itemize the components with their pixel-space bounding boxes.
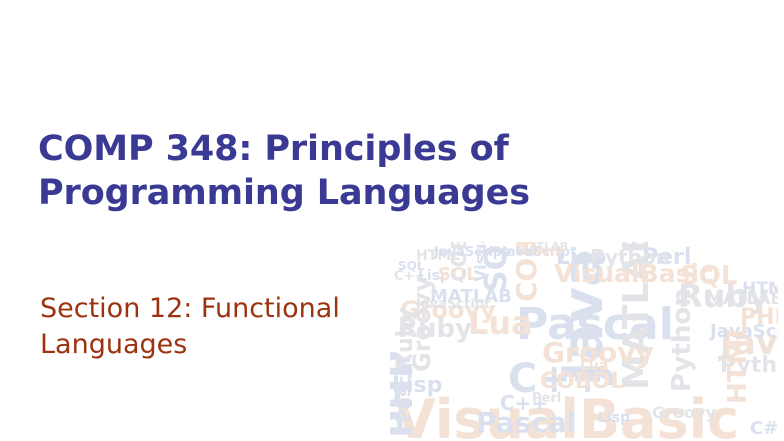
wordcloud-word: C++: [500, 391, 548, 415]
wordcloud-word: PHP: [536, 245, 564, 259]
wordcloud-word: Pascal: [394, 357, 415, 422]
wordcloud-word: Groovy: [652, 403, 716, 422]
subtitle-block: Section 12: Functional Languages: [40, 291, 400, 362]
wordcloud-word: JavaScript: [415, 297, 490, 312]
wordcloud-word: HTML: [723, 322, 753, 404]
wordcloud-word: Lisp: [598, 410, 630, 426]
wordcloud-word: C#: [750, 418, 778, 439]
wordcloud-word: Lua: [580, 358, 608, 374]
page-title: COMP 348: Principles of Programming Lang…: [38, 127, 558, 215]
presentation-slide: COMP 348: Principles of Programming Lang…: [0, 0, 784, 441]
title-block: COMP 348: Principles of Programming Lang…: [38, 127, 558, 215]
wordcloud-word: Python: [590, 245, 670, 269]
wordcloud-image: VisualBasicPascalJavaMATLABPythonVisualB…: [390, 242, 778, 441]
slide-subtitle: Section 12: Functional Languages: [40, 291, 400, 362]
wordcloud-canvas: VisualBasicPascalJavaMATLABPythonVisualB…: [390, 242, 778, 441]
wordcloud-word: HTML: [742, 279, 778, 299]
wordcloud-word: JavaScript: [433, 245, 508, 260]
wordcloud-word: Python: [667, 288, 697, 392]
